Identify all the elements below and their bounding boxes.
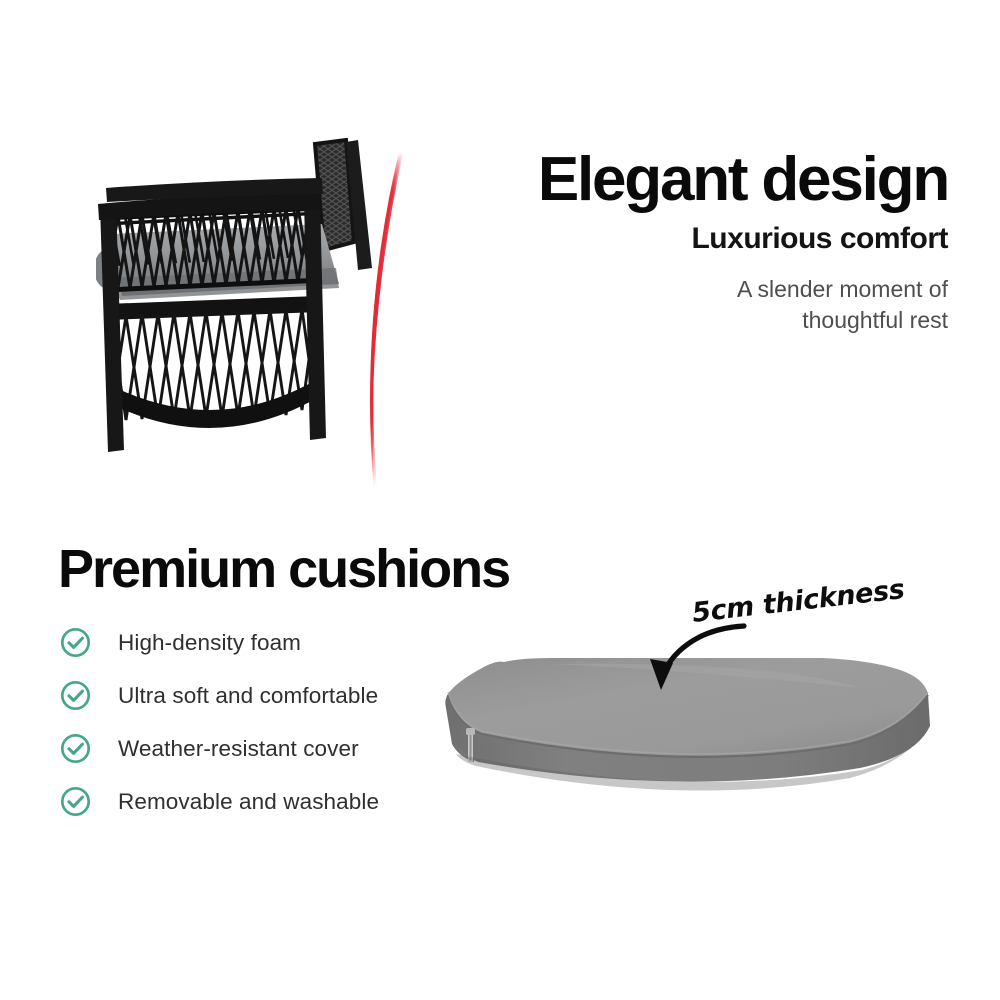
check-circle-icon xyxy=(60,627,91,658)
body-line-1: A slender moment of xyxy=(737,276,948,302)
seat-cushion-image xyxy=(430,648,950,818)
feature-label: Weather-resistant cover xyxy=(118,736,359,762)
annotation-5cm-thickness: 5cm thickness xyxy=(690,574,906,629)
list-item: Ultra soft and comfortable xyxy=(60,669,460,722)
check-circle-icon xyxy=(60,786,91,817)
list-item: Weather-resistant cover xyxy=(60,722,460,775)
body-line-2: thoughtful rest xyxy=(802,307,948,333)
elegant-design-text-block: Elegant design Luxurious comfort A slend… xyxy=(470,150,948,335)
check-circle-icon xyxy=(60,680,91,711)
check-circle-icon xyxy=(60,733,91,764)
feature-label: High-density foam xyxy=(118,630,301,656)
list-item: High-density foam xyxy=(60,616,460,669)
list-item: Removable and washable xyxy=(60,775,460,828)
feature-checklist: High-density foam Ultra soft and comfort… xyxy=(60,616,460,828)
product-feature-image: Elegant design Luxurious comfort A slend… xyxy=(0,0,1000,1000)
rattan-armchair-image xyxy=(96,138,396,488)
body-copy-slender-moment: A slender moment of thoughtful rest xyxy=(470,274,948,335)
feature-label: Removable and washable xyxy=(118,789,379,815)
headline-elegant-design: Elegant design xyxy=(470,150,948,211)
subhead-luxurious-comfort: Luxurious comfort xyxy=(470,221,948,256)
headline-premium-cushions: Premium cushions xyxy=(58,542,509,596)
feature-label: Ultra soft and comfortable xyxy=(118,683,378,709)
